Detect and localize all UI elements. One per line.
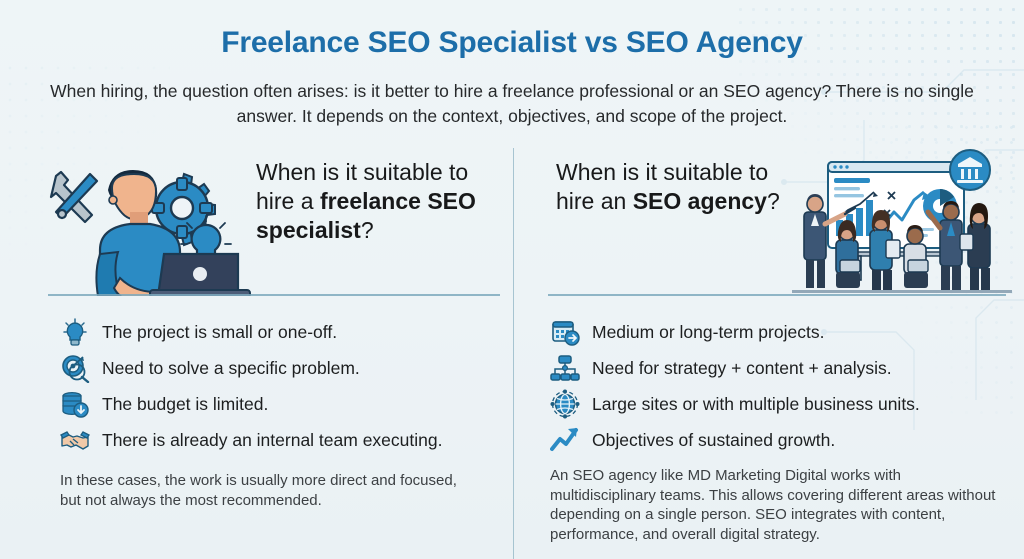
list-item: Large sites or with multiple business un… xyxy=(548,386,1024,422)
page-title: Freelance SEO Specialist vs SEO Agency xyxy=(0,26,1024,60)
left-heading: When is it suitable to hire a freelance … xyxy=(256,158,491,245)
left-column-header: When is it suitable to hire a freelance … xyxy=(18,148,496,294)
left-separator-rule xyxy=(48,294,500,296)
growth-arrow-icon xyxy=(548,424,582,456)
right-footnote: An SEO agency like MD Marketing Digital … xyxy=(550,466,998,544)
gear-icon xyxy=(152,174,215,245)
person-figure xyxy=(96,170,180,296)
list-item-label: Large sites or with multiple business un… xyxy=(592,394,920,415)
globe-icon xyxy=(548,388,582,420)
list-item: The project is small or one-off. xyxy=(58,314,536,350)
sitemap-icon xyxy=(548,352,582,384)
infographic-canvas: Freelance SEO Specialist vs SEO Agency W… xyxy=(0,0,1024,559)
calendar-icon xyxy=(548,316,582,348)
list-item: The budget is limited. xyxy=(58,386,536,422)
bank-badge-icon xyxy=(950,150,990,190)
right-heading-strong: SEO agency xyxy=(633,188,767,214)
left-heading-suffix: ? xyxy=(361,217,374,243)
list-item-label: Need to solve a specific problem. xyxy=(102,358,360,379)
right-column-header: When is it suitable to hire an SEO agenc… xyxy=(530,148,1008,294)
left-bullet-list: The project is small or one-off. Need to… xyxy=(58,314,536,458)
column-freelance: When is it suitable to hire a freelance … xyxy=(18,148,496,559)
list-item: Medium or long-term projects. xyxy=(548,314,1024,350)
page-subtitle: When hiring, the question often arises: … xyxy=(50,79,974,129)
right-heading: When is it suitable to hire an SEO agenc… xyxy=(556,158,806,216)
team-people xyxy=(804,194,990,290)
list-item: Need for strategy + content + analysis. xyxy=(548,350,1024,386)
list-item: There is already an internal team execut… xyxy=(58,422,536,458)
coins-budget-icon xyxy=(58,388,92,420)
list-item-label: Need for strategy + content + analysis. xyxy=(592,358,892,379)
tools-icon xyxy=(51,172,97,222)
list-item-label: Objectives of sustained growth. xyxy=(592,430,835,451)
right-separator-rule xyxy=(548,294,1006,296)
column-agency: When is it suitable to hire an SEO agenc… xyxy=(530,148,1008,559)
list-item-label: The budget is limited. xyxy=(102,394,268,415)
list-item-label: There is already an internal team execut… xyxy=(102,430,442,451)
list-item: Objectives of sustained growth. xyxy=(548,422,1024,458)
laptop xyxy=(150,254,250,296)
lightbulb-icon xyxy=(58,316,92,348)
list-item: Need to solve a specific problem. xyxy=(58,350,536,386)
lightbulb-icon xyxy=(181,216,231,262)
right-heading-suffix: ? xyxy=(767,188,780,214)
target-magnifier-icon xyxy=(58,352,92,384)
handshake-icon xyxy=(58,424,92,456)
list-item-label: Medium or long-term projects. xyxy=(592,322,824,343)
right-bullet-list: Medium or long-term projects. xyxy=(548,314,1024,458)
list-item-label: The project is small or one-off. xyxy=(102,322,337,343)
dashboard-screen xyxy=(828,162,964,248)
freelancer-at-laptop-illustration xyxy=(30,150,256,296)
agency-team-dashboard-illustration xyxy=(792,148,1012,296)
left-footnote: In these cases, the work is usually more… xyxy=(60,471,460,510)
